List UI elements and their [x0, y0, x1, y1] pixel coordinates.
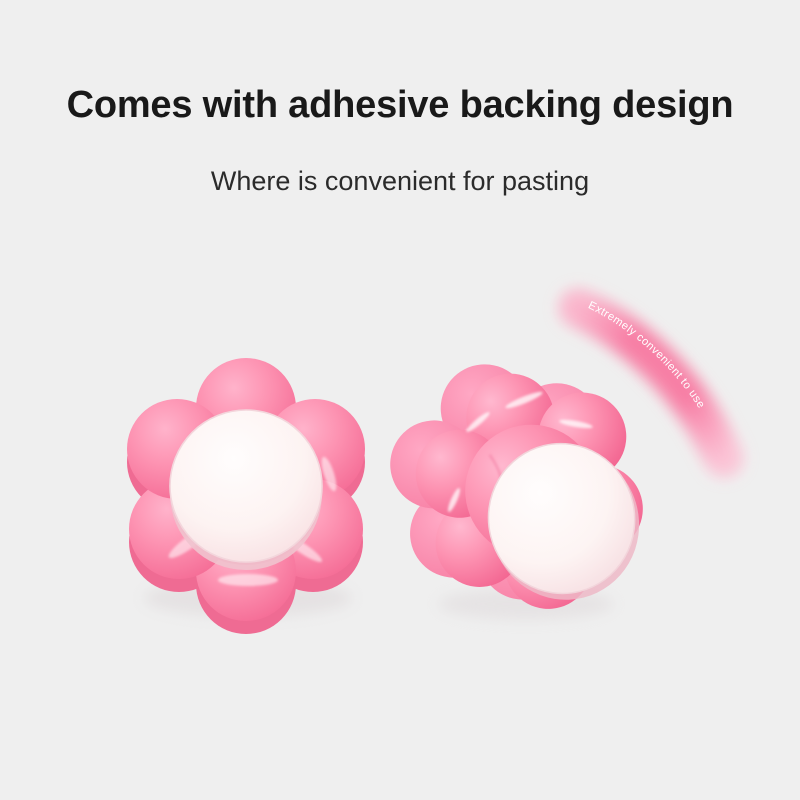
product-feature-image: Comes with adhesive backing design Where…: [0, 0, 800, 800]
page-subtitle: Where is convenient for pasting: [0, 166, 800, 197]
page-title: Comes with adhesive backing design: [0, 84, 800, 127]
product-left: [96, 336, 396, 636]
product-right: [396, 352, 666, 632]
